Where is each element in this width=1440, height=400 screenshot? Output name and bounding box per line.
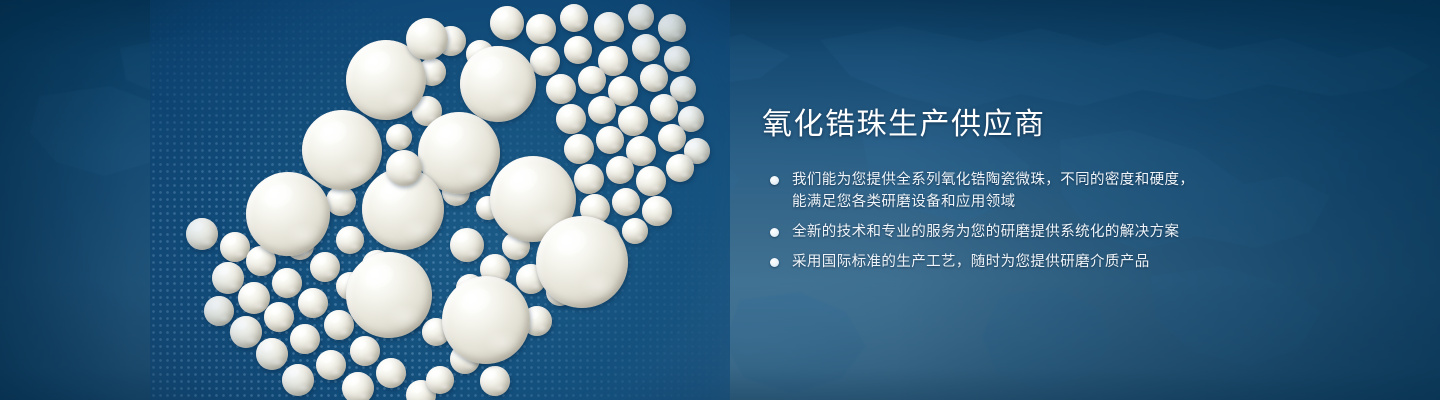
bead bbox=[490, 6, 524, 40]
list-item-line2: 能满足您各类研磨设备和应用领域 bbox=[792, 191, 1282, 213]
bead bbox=[256, 338, 288, 370]
bead bbox=[658, 124, 686, 152]
bead bbox=[204, 296, 234, 326]
bead bbox=[564, 134, 594, 164]
list-item-line1: 全新的技术和专业的服务为您的研磨提供系统化的解决方案 bbox=[792, 224, 1179, 240]
feature-list: 我们能为您提供全系列氧化锆陶瓷微珠，不同的密度和硬度， 能满足您各类研磨设备和应… bbox=[762, 169, 1282, 273]
bead bbox=[310, 252, 340, 282]
bead bbox=[632, 34, 660, 62]
bead bbox=[386, 150, 422, 186]
bead bbox=[350, 336, 380, 366]
bead bbox=[386, 124, 412, 150]
bead bbox=[480, 366, 510, 396]
list-item-line1: 采用国际标准的生产工艺，随时为您提供研磨介质产品 bbox=[792, 254, 1150, 270]
bead bbox=[282, 364, 314, 396]
bead bbox=[658, 14, 686, 42]
bead bbox=[342, 372, 374, 400]
bead bbox=[618, 106, 648, 136]
bead bbox=[642, 196, 672, 226]
bead bbox=[560, 4, 588, 32]
bead bbox=[666, 154, 694, 182]
bead bbox=[536, 216, 628, 308]
promo-banner: 氧化锆珠生产供应商 我们能为您提供全系列氧化锆陶瓷微珠，不同的密度和硬度， 能满… bbox=[0, 0, 1440, 400]
bead bbox=[442, 276, 530, 364]
bead bbox=[272, 268, 302, 298]
bead bbox=[606, 156, 634, 184]
bead bbox=[622, 218, 648, 244]
bead bbox=[264, 302, 294, 332]
photo-feather-mask bbox=[150, 0, 730, 400]
bullet-dot-icon bbox=[770, 258, 779, 267]
bead bbox=[336, 226, 364, 254]
bullet-dot-icon bbox=[770, 228, 779, 237]
zirconia-beads-photo bbox=[150, 0, 730, 400]
banner-copy: 氧化锆珠生产供应商 我们能为您提供全系列氧化锆陶瓷微珠，不同的密度和硬度， 能满… bbox=[762, 108, 1282, 273]
bead bbox=[530, 46, 560, 76]
bead bbox=[612, 188, 640, 216]
bead bbox=[526, 14, 556, 44]
list-item: 全新的技术和专业的服务为您的研磨提供系统化的解决方案 bbox=[762, 221, 1282, 243]
bead bbox=[664, 46, 690, 72]
bead bbox=[588, 96, 616, 124]
bead bbox=[290, 324, 320, 354]
bead bbox=[546, 74, 576, 104]
bead bbox=[650, 94, 678, 122]
bead bbox=[564, 36, 592, 64]
bead bbox=[326, 186, 356, 216]
bead bbox=[186, 218, 218, 250]
bead bbox=[324, 310, 354, 340]
bead bbox=[346, 252, 432, 338]
list-item-line1: 我们能为您提供全系列氧化锆陶瓷微珠，不同的密度和硬度， bbox=[792, 172, 1194, 188]
bead bbox=[636, 166, 666, 196]
bead bbox=[578, 66, 606, 94]
bead bbox=[406, 18, 448, 60]
bead bbox=[574, 164, 604, 194]
bead bbox=[596, 126, 624, 154]
bead bbox=[628, 4, 654, 30]
bead bbox=[450, 228, 484, 262]
bead bbox=[302, 110, 382, 190]
bead bbox=[230, 316, 262, 348]
bead bbox=[246, 172, 330, 256]
bullet-dot-icon bbox=[770, 176, 779, 185]
bead bbox=[460, 46, 536, 122]
list-item: 采用国际标准的生产工艺，随时为您提供研磨介质产品 bbox=[762, 251, 1282, 273]
bead bbox=[316, 350, 346, 380]
page-title: 氧化锆珠生产供应商 bbox=[762, 108, 1282, 141]
bead bbox=[556, 104, 586, 134]
bead bbox=[298, 288, 328, 318]
list-item: 我们能为您提供全系列氧化锆陶瓷微珠，不同的密度和硬度， 能满足您各类研磨设备和应… bbox=[762, 169, 1282, 213]
bead bbox=[426, 366, 454, 394]
bead bbox=[376, 358, 406, 388]
bead bbox=[640, 64, 668, 92]
bead bbox=[594, 12, 624, 42]
